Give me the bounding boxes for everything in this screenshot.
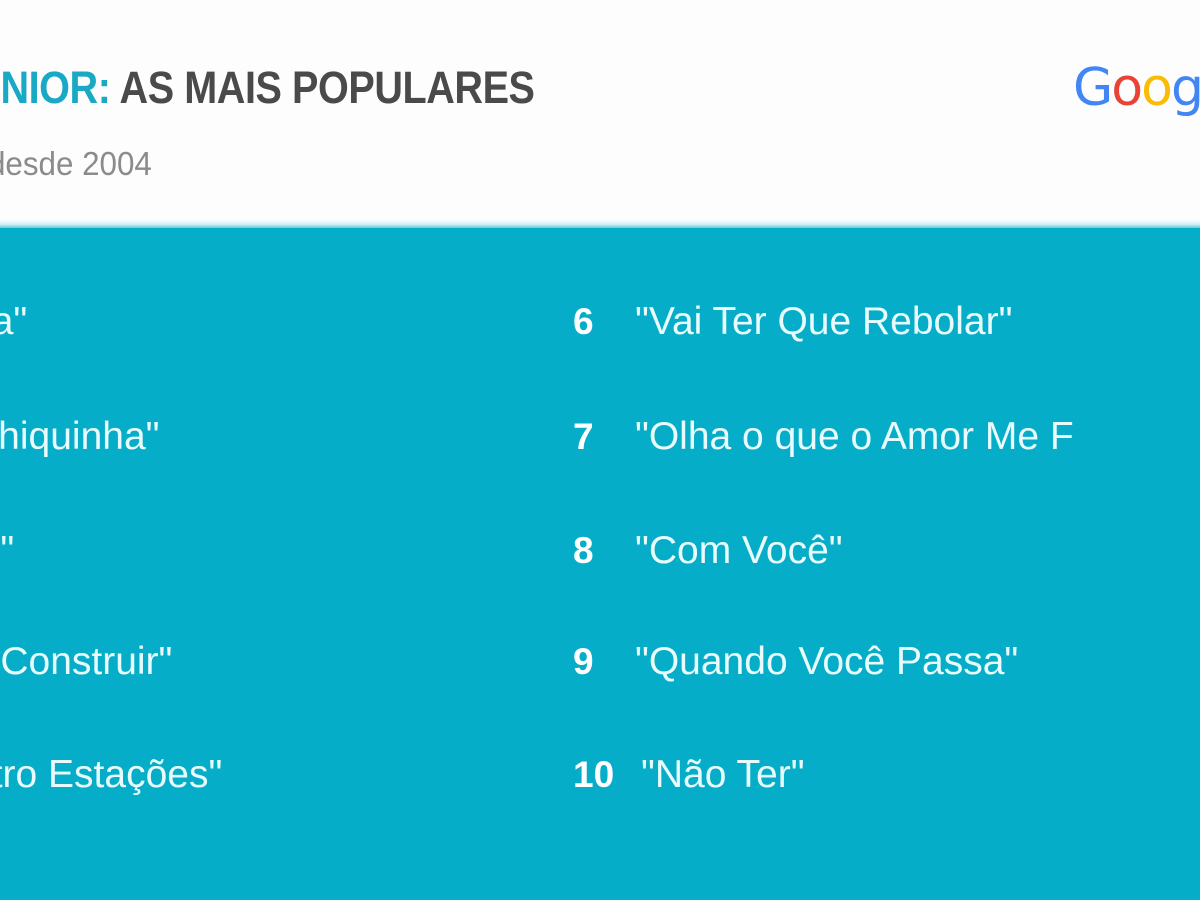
list-item[interactable]: al"	[0, 529, 14, 573]
google-logo-letter-g2: g	[1171, 58, 1200, 118]
page-title-brand: & JUNIOR:	[0, 62, 110, 113]
song-title: atro Estações"	[0, 753, 222, 797]
google-logo-letter-o2: o	[1141, 58, 1171, 118]
song-title: da"	[0, 300, 27, 344]
song-title: s Construir"	[0, 640, 172, 684]
google-logo: Goog	[1073, 58, 1200, 118]
song-title: "Não Ter"	[641, 753, 805, 797]
song-rank: 6	[573, 301, 635, 343]
page-subtitle: desde 2004	[0, 145, 152, 183]
song-title: Chiquinha"	[0, 415, 159, 459]
page-title-rest: AS MAIS POPULARES	[110, 62, 534, 113]
song-title: "Olha o que o Amor Me F	[635, 415, 1074, 459]
list-item[interactable]: da"	[0, 300, 27, 344]
song-title: "Com Você"	[635, 529, 843, 573]
list-item[interactable]: atro Estações"	[0, 753, 222, 797]
google-logo-letter-o1: o	[1111, 58, 1141, 118]
list-item[interactable]: 10 "Não Ter"	[573, 753, 805, 797]
list-item[interactable]: 9 "Quando Você Passa"	[573, 640, 1018, 684]
song-title: "Vai Ter Que Rebolar"	[635, 300, 1012, 344]
list-item[interactable]: 7 "Olha o que o Amor Me F	[573, 415, 1074, 459]
song-rank: 8	[573, 530, 635, 572]
page-title: & JUNIOR: AS MAIS POPULARES	[0, 62, 535, 114]
song-title: "Quando Você Passa"	[635, 640, 1018, 684]
song-rank: 7	[573, 416, 635, 458]
list-item[interactable]: s Construir"	[0, 640, 172, 684]
google-logo-letter-g1: G	[1073, 58, 1111, 118]
list-item[interactable]: 6 "Vai Ter Que Rebolar"	[573, 300, 1012, 344]
list-item[interactable]: 8 "Com Você"	[573, 529, 843, 573]
song-title: al"	[0, 529, 14, 573]
list-item[interactable]: Chiquinha"	[0, 415, 159, 459]
song-rank: 10	[573, 754, 641, 796]
songs-panel: da" Chiquinha" al" s Construir" atro Est…	[0, 228, 1200, 900]
songs-columns: da" Chiquinha" al" s Construir" atro Est…	[0, 228, 1200, 900]
song-rank: 9	[573, 641, 635, 683]
header-band: & JUNIOR: AS MAIS POPULARES desde 2004 G…	[0, 0, 1200, 228]
